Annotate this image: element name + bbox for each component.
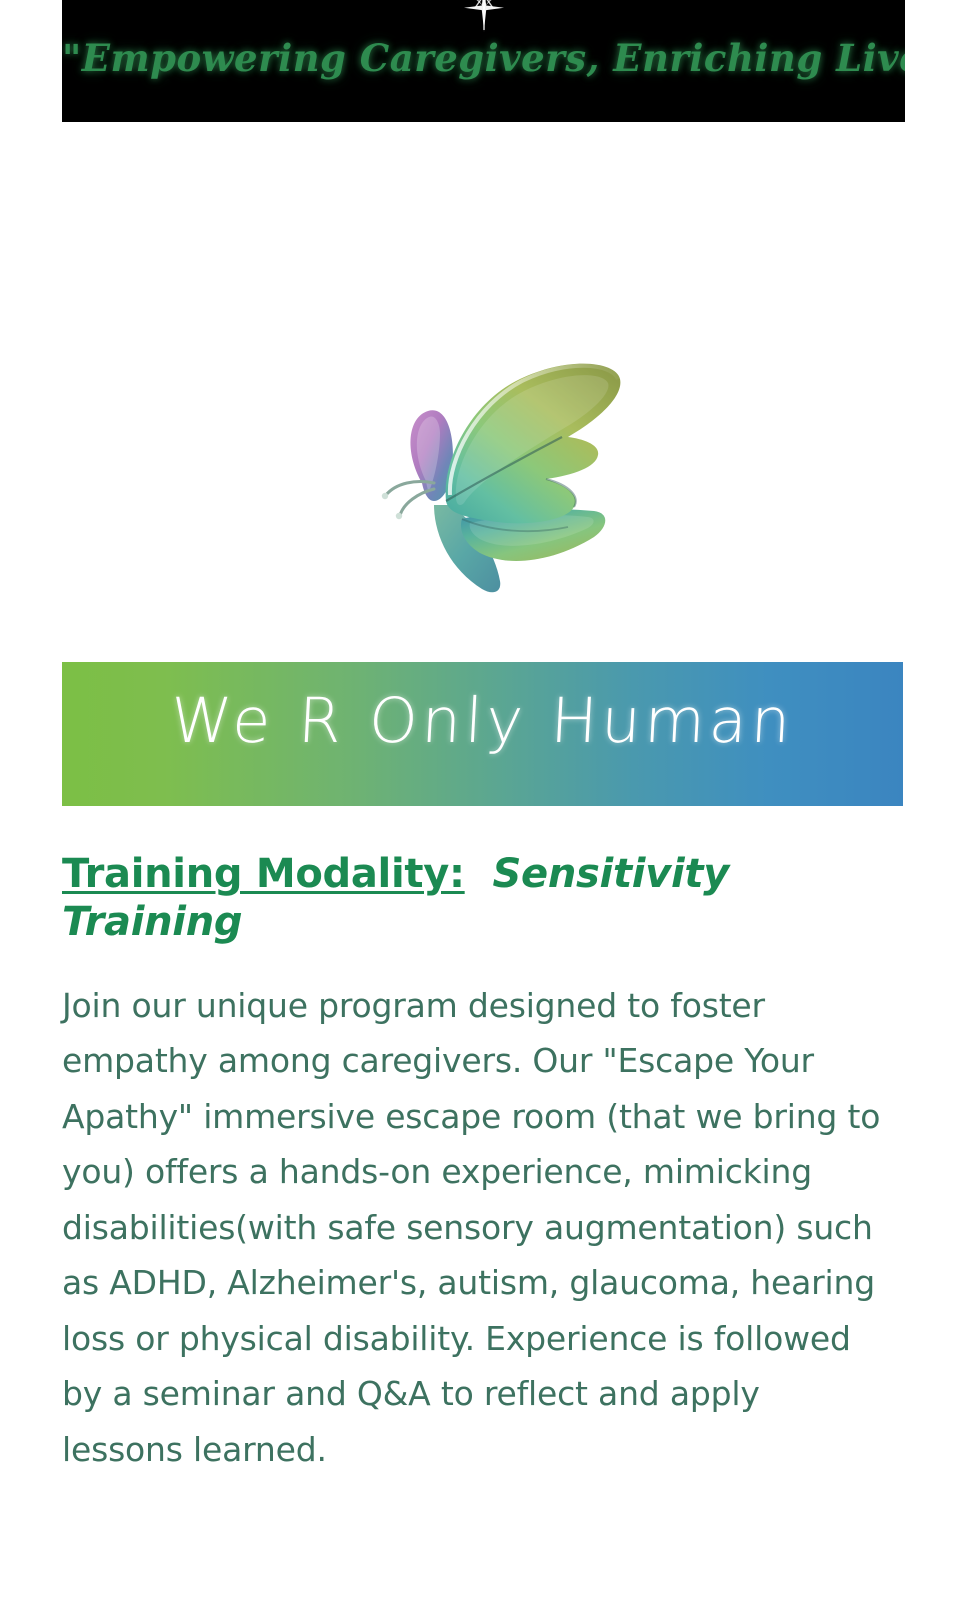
tagline-text: "Empowering Caregivers, Enriching Lives" [62,36,905,80]
program-description: Join our unique program designed to fost… [62,978,890,1477]
title-banner-text: We R Only Human [62,688,903,753]
page-title: Training Modality: Sensitivity Training [62,850,892,946]
logo-container [0,340,960,620]
sparkle-star-icon [461,0,507,32]
training-modality-label: Training Modality: [62,851,465,897]
heading-spacer [465,851,493,897]
page-root: "Empowering Caregivers, Enriching Lives" [0,0,960,1598]
title-banner: We R Only Human [62,662,903,806]
butterfly-logo-icon [330,355,630,605]
main-content: Training Modality: Sensitivity Training … [62,850,892,1477]
tagline-banner: "Empowering Caregivers, Enriching Lives" [62,0,905,122]
